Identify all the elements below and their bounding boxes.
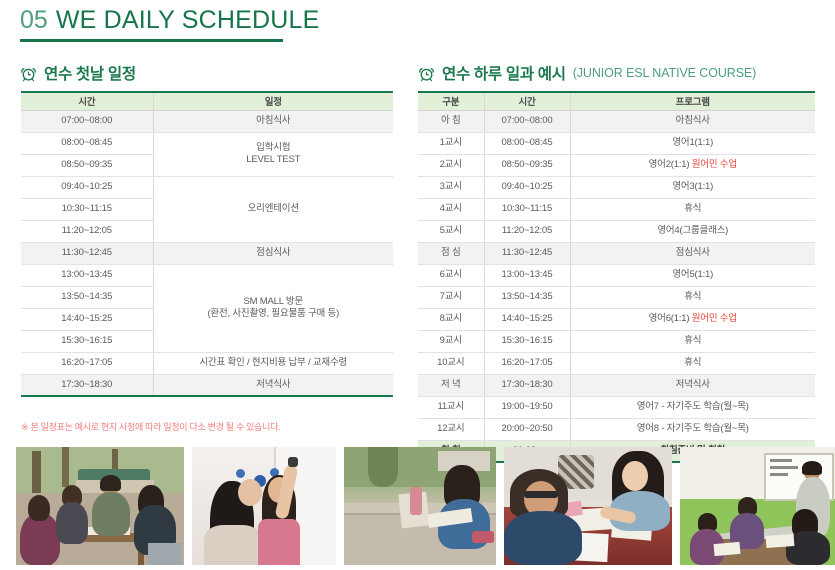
cell-program: 영어3(1:1) xyxy=(570,176,815,198)
right-table-body: 아 침07:00~08:00아침식사1교시08:00~08:45영어1(1:1)… xyxy=(418,110,815,462)
cell-program: 영어1(1:1) xyxy=(570,132,815,154)
table-row: 6교시13:00~13:45영어5(1:1) xyxy=(418,264,815,286)
cell-activity: 오리엔테이션 xyxy=(153,176,393,242)
title-line: 05 WE DAILY SCHEDULE xyxy=(20,6,300,35)
table-row: 09:40~10:25오리엔테이션 xyxy=(21,176,393,198)
cell-time: 14:40~15:25 xyxy=(21,308,153,330)
first-day-schedule-table: 시간 일정 07:00~08:00아침식사08:00~08:45입학시험LEVE… xyxy=(21,91,393,397)
cell-time: 17:30~18:30 xyxy=(484,374,570,396)
cell-time: 17:30~18:30 xyxy=(21,374,153,396)
program-accent-text: 원어민 수업 xyxy=(692,313,737,324)
program-text: 영어6(1:1) xyxy=(649,313,692,324)
cell-time: 19:00~19:50 xyxy=(484,396,570,418)
right-section-title: 연수 하루 일과 예시 xyxy=(442,62,566,84)
cell-time: 08:00~08:45 xyxy=(21,132,153,154)
cell-program: 영어4(그룹클래스) xyxy=(570,220,815,242)
title-underline xyxy=(20,39,283,42)
table-row: 3교시09:40~10:25영어3(1:1) xyxy=(418,176,815,198)
cell-activity: SM MALL 방문(환전, 사진촬영, 필요물품 구매 등) xyxy=(153,264,393,352)
alarm-clock-icon xyxy=(418,65,435,82)
cell-program: 점심식사 xyxy=(570,242,815,264)
photo-oneonone-class xyxy=(504,447,672,565)
daily-schedule-table: 구분 시간 프로그램 아 침07:00~08:00아침식사1교시08:00~08… xyxy=(418,91,815,463)
table-row: 11교시19:00~19:50영어7 - 자기주도 학습(월~목) xyxy=(418,396,815,418)
table-row: 1교시08:00~08:45영어1(1:1) xyxy=(418,132,815,154)
column-header-time: 시간 xyxy=(21,92,153,110)
cell-period: 4교시 xyxy=(418,198,484,220)
table-row: 17:30~18:30저녁식사 xyxy=(21,374,393,396)
cell-activity: 아침식사 xyxy=(153,110,393,132)
cell-time: 08:50~09:35 xyxy=(21,154,153,176)
cell-period: 9교시 xyxy=(418,330,484,352)
cell-activity: 점심식사 xyxy=(153,242,393,264)
cell-time: 15:30~16:15 xyxy=(484,330,570,352)
cell-time: 10:30~11:15 xyxy=(484,198,570,220)
cell-period: 아 침 xyxy=(418,110,484,132)
cell-period: 8교시 xyxy=(418,308,484,330)
slide-page: 05 WE DAILY SCHEDULE 연수 첫날 일정 시간 일정 07:0… xyxy=(0,0,835,570)
cell-time: 20:00~20:50 xyxy=(484,418,570,440)
cell-time: 07:00~08:00 xyxy=(21,110,153,132)
cell-time: 11:20~12:05 xyxy=(21,220,153,242)
cell-time: 08:50~09:35 xyxy=(484,154,570,176)
disclaimer-note: ※ 본 일정표는 예시로 현지 사정에 따라 일정이 다소 변경 될 수 있습니… xyxy=(21,420,280,433)
cell-period: 11교시 xyxy=(418,396,484,418)
table-row: 저 녁17:30~18:30저녁식사 xyxy=(418,374,815,396)
cell-time: 11:30~12:45 xyxy=(21,242,153,264)
cell-period: 저 녁 xyxy=(418,374,484,396)
cell-activity: 저녁식사 xyxy=(153,374,393,396)
cell-time: 16:20~17:05 xyxy=(484,352,570,374)
activity-line-1: 입학시험 xyxy=(154,142,394,154)
cell-period: 1교시 xyxy=(418,132,484,154)
program-text: 영어2(1:1) xyxy=(649,159,692,170)
cell-time: 09:40~10:25 xyxy=(21,176,153,198)
activity-line-1: SM MALL 방문 xyxy=(154,296,394,308)
cell-period: 3교시 xyxy=(418,176,484,198)
right-section-subtitle: (JUNIOR ESL NATIVE COURSE) xyxy=(573,66,757,80)
cell-program: 휴식 xyxy=(570,286,815,308)
table-header-row: 시간 일정 xyxy=(21,92,393,110)
cell-time: 11:30~12:45 xyxy=(484,242,570,264)
title-text: WE DAILY SCHEDULE xyxy=(56,6,320,35)
table-row: 7교시13:50~14:35휴식 xyxy=(418,286,815,308)
cell-time: 09:40~10:25 xyxy=(484,176,570,198)
cell-time: 07:00~08:00 xyxy=(484,110,570,132)
cell-program: 아침식사 xyxy=(570,110,815,132)
cell-time: 15:30~16:15 xyxy=(21,330,153,352)
cell-program: 휴식 xyxy=(570,330,815,352)
program-accent-text: 원어민 수업 xyxy=(692,159,737,170)
cell-program: 영어8 - 자기주도 학습(월~목) xyxy=(570,418,815,440)
cell-program: 휴식 xyxy=(570,352,815,374)
cell-period: 2교시 xyxy=(418,154,484,176)
photo-student-studying-outside xyxy=(344,447,496,565)
page-title: 05 WE DAILY SCHEDULE xyxy=(20,6,300,42)
cell-activity: 입학시험LEVEL TEST xyxy=(153,132,393,176)
table-row: 4교시10:30~11:15휴식 xyxy=(418,198,815,220)
table-row: 11:30~12:45점심식사 xyxy=(21,242,393,264)
cell-program: 영어7 - 자기주도 학습(월~목) xyxy=(570,396,815,418)
cell-time: 13:50~14:35 xyxy=(21,286,153,308)
cell-time: 16:20~17:05 xyxy=(21,352,153,374)
left-section-title: 연수 첫날 일정 xyxy=(44,62,136,84)
cell-program: 영어6(1:1) 원어민 수업 xyxy=(570,308,815,330)
cell-period: 10교시 xyxy=(418,352,484,374)
table-row: 07:00~08:00아침식사 xyxy=(21,110,393,132)
column-header-program: 프로그램 xyxy=(570,92,815,110)
cell-time: 11:20~12:05 xyxy=(484,220,570,242)
photo-whiteboard-writing xyxy=(192,447,336,565)
photo-strip xyxy=(16,447,835,565)
column-header-activity: 일정 xyxy=(153,92,393,110)
left-table-body: 07:00~08:00아침식사08:00~08:45입학시험LEVEL TEST… xyxy=(21,110,393,396)
table-row: 9교시15:30~16:15휴식 xyxy=(418,330,815,352)
cell-time: 13:00~13:45 xyxy=(484,264,570,286)
activity-line-2: (환전, 사진촬영, 필요물품 구매 등) xyxy=(154,308,394,320)
table-row: 12교시20:00~20:50영어8 - 자기주도 학습(월~목) xyxy=(418,418,815,440)
activity-line-2: LEVEL TEST xyxy=(154,154,394,166)
title-number: 05 xyxy=(20,6,48,35)
cell-time: 13:50~14:35 xyxy=(484,286,570,308)
cell-time: 14:40~15:25 xyxy=(484,308,570,330)
table-row: 08:00~08:45입학시험LEVEL TEST xyxy=(21,132,393,154)
table-row: 5교시11:20~12:05영어4(그룹클래스) xyxy=(418,220,815,242)
table-row: 8교시14:40~15:25영어6(1:1) 원어민 수업 xyxy=(418,308,815,330)
photo-outdoor-class xyxy=(16,447,184,565)
cell-program: 저녁식사 xyxy=(570,374,815,396)
column-header-time: 시간 xyxy=(484,92,570,110)
cell-period: 6교시 xyxy=(418,264,484,286)
cell-time: 10:30~11:15 xyxy=(21,198,153,220)
table-row: 10교시16:20~17:05휴식 xyxy=(418,352,815,374)
table-row: 16:20~17:05시간표 확인 / 현지비용 납부 / 교재수령 xyxy=(21,352,393,374)
cell-program: 영어5(1:1) xyxy=(570,264,815,286)
column-header-period: 구분 xyxy=(418,92,484,110)
cell-program: 휴식 xyxy=(570,198,815,220)
cell-time: 13:00~13:45 xyxy=(21,264,153,286)
cell-period: 7교시 xyxy=(418,286,484,308)
cell-period: 5교시 xyxy=(418,220,484,242)
cell-period: 12교시 xyxy=(418,418,484,440)
alarm-clock-icon xyxy=(20,65,37,82)
photo-group-class xyxy=(680,447,835,565)
table-row: 13:00~13:45SM MALL 방문(환전, 사진촬영, 필요물품 구매 … xyxy=(21,264,393,286)
cell-time: 08:00~08:45 xyxy=(484,132,570,154)
table-row: 2교시08:50~09:35영어2(1:1) 원어민 수업 xyxy=(418,154,815,176)
table-row: 점 심11:30~12:45점심식사 xyxy=(418,242,815,264)
table-row: 아 침07:00~08:00아침식사 xyxy=(418,110,815,132)
left-section-heading: 연수 첫날 일정 xyxy=(20,62,136,84)
cell-activity: 시간표 확인 / 현지비용 납부 / 교재수령 xyxy=(153,352,393,374)
table-header-row: 구분 시간 프로그램 xyxy=(418,92,815,110)
cell-period: 점 심 xyxy=(418,242,484,264)
cell-program: 영어2(1:1) 원어민 수업 xyxy=(570,154,815,176)
right-section-heading: 연수 하루 일과 예시 (JUNIOR ESL NATIVE COURSE) xyxy=(418,62,756,84)
